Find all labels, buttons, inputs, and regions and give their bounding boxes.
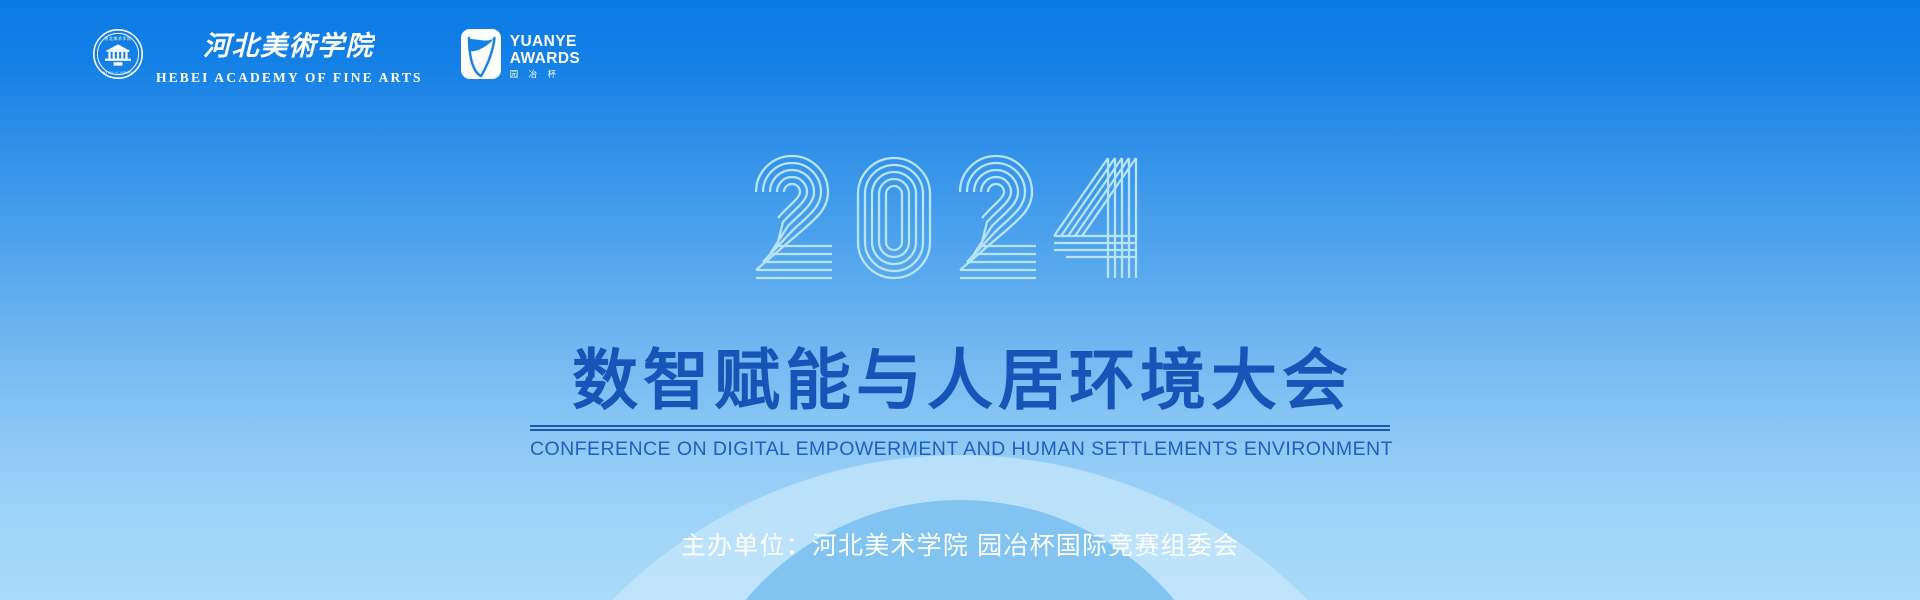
hebei-seal-icon: 河北美术学院 HEBEI ACADEMY (92, 28, 144, 85)
page-title: 数智赋能与人居环境大会 (530, 345, 1390, 416)
year-2024-graphic: 2024 (750, 140, 1170, 295)
divider-line-bottom (530, 429, 1390, 431)
yuanye-name-group: YUANYE AWARDS 园 冶 杯 (510, 34, 580, 79)
hebei-name-cn-calligraphy: 河北美術学院 (203, 28, 375, 69)
yuanye-mark-icon (461, 29, 501, 84)
yuanye-awards-logo[interactable]: YUANYE AWARDS 园 冶 杯 (461, 29, 580, 84)
logo-row: 河北美术学院 HEBEI ACADEMY 河北美術学院 HEBEI ACADEM… (92, 28, 580, 85)
year-digit-2a (756, 156, 832, 278)
svg-text:河北美術学院: 河北美術学院 (203, 31, 375, 61)
organizer-line: 主办单位：河北美术学院 园冶杯国际竞赛组委会 (681, 531, 1239, 561)
hebei-name-en: HEBEI ACADEMY OF FINE ARTS (156, 71, 423, 85)
year-digit-4 (1054, 158, 1136, 278)
divider-line-top (530, 425, 1390, 427)
yuanye-name-line2: AWARDS (510, 51, 580, 68)
conference-banner: 河北美术学院 HEBEI ACADEMY 河北美術学院 HEBEI ACADEM… (0, 0, 1920, 600)
yuanye-name-line1: YUANYE (510, 34, 580, 51)
year-digit-0 (858, 158, 930, 278)
year-digit-2b (960, 156, 1036, 278)
headline-block: 数智赋能与人居环境大会 CONFERENCE ON DIGITAL EMPOWE… (530, 345, 1390, 462)
hebei-academy-logo[interactable]: 河北美术学院 HEBEI ACADEMY 河北美術学院 HEBEI ACADEM… (92, 28, 423, 85)
svg-text:河北美术学院: 河北美术学院 (105, 36, 132, 41)
page-subtitle: CONFERENCE ON DIGITAL EMPOWERMENT AND HU… (530, 437, 1390, 461)
decorative-arc-outer (470, 455, 1450, 600)
svg-text:HEBEI ACADEMY: HEBEI ACADEMY (103, 71, 133, 75)
hebei-name-group: 河北美術学院 HEBEI ACADEMY OF FINE ARTS (156, 28, 423, 85)
title-divider (530, 425, 1390, 430)
yuanye-name-cn: 园 冶 杯 (510, 70, 580, 79)
